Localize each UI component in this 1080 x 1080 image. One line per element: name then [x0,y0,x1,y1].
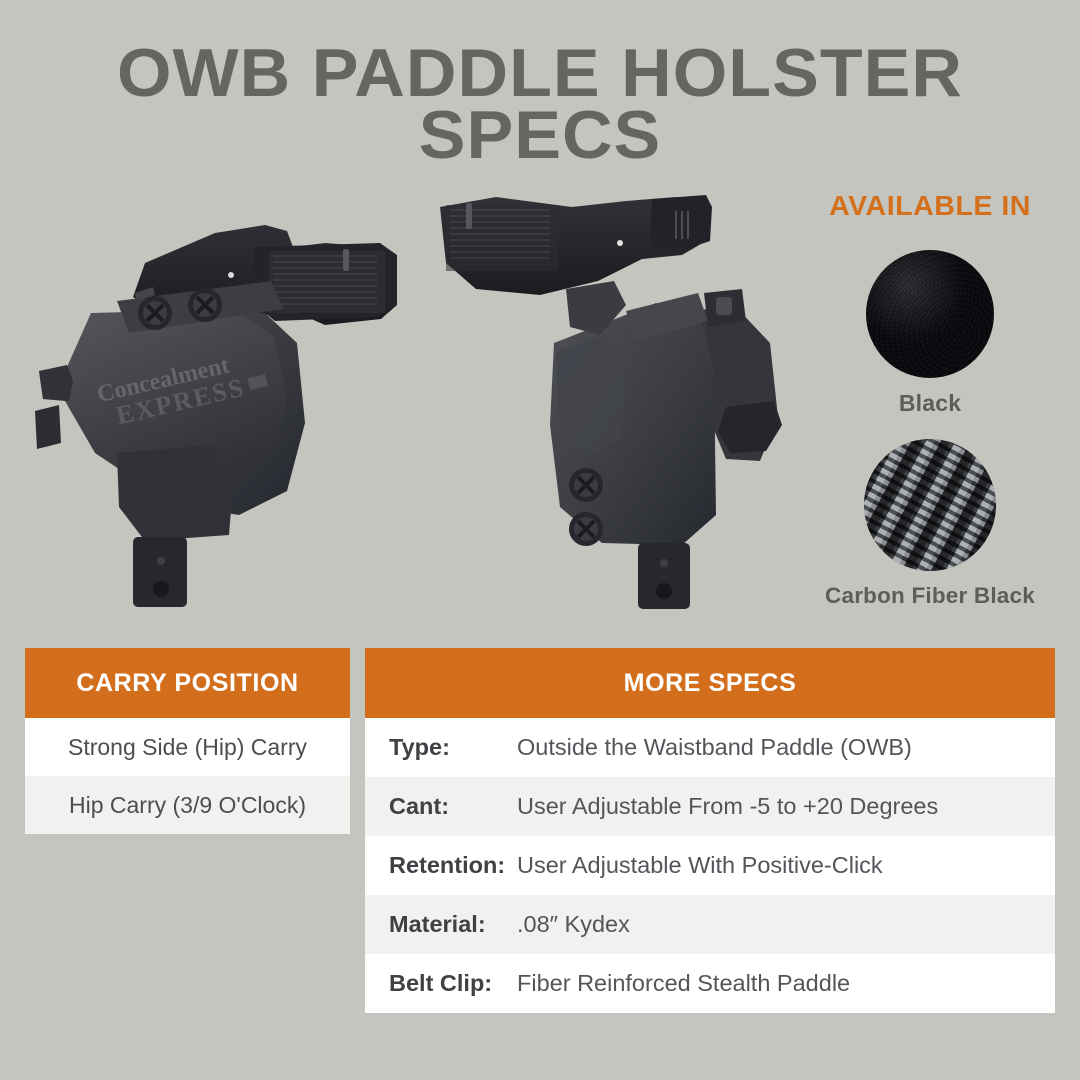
spec-value: Outside the Waistband Paddle (OWB) [517,734,912,761]
holster-rear-view-image [430,185,810,625]
carry-position-table-header: CARRY POSITION [25,648,350,718]
available-colors-panel: AVAILABLE IN Black Carbon Fiber Black [790,190,1070,627]
table-row: Material: .08″ Kydex [365,895,1055,954]
carbon-fiber-black-swatch-label: Carbon Fiber Black [790,583,1070,609]
table-row: Retention: User Adjustable With Positive… [365,836,1055,895]
spec-label: Retention: [365,852,517,879]
spec-label: Type: [365,734,517,761]
product-gallery: Concealment EXPRESS [0,185,800,635]
carry-position-table-body: Strong Side (Hip) Carry Hip Carry (3/9 O… [25,718,350,834]
page-title-line-2: SPECS [0,104,1080,166]
screw-1 [569,468,603,502]
color-option-carbon-fiber-black[interactable]: Carbon Fiber Black [790,439,1070,609]
table-row: Cant: User Adjustable From -5 to +20 Deg… [365,777,1055,836]
carry-position-value: Strong Side (Hip) Carry [68,734,307,761]
screw-2 [188,288,222,322]
available-in-heading: AVAILABLE IN [787,190,1073,222]
carry-position-table: CARRY POSITION Strong Side (Hip) Carry H… [25,648,350,834]
spec-label: Material: [365,911,517,938]
spec-value: .08″ Kydex [517,911,630,938]
paddle-tab [638,543,690,609]
spec-label: Cant: [365,793,517,820]
more-specs-table-body: Type: Outside the Waistband Paddle (OWB)… [365,718,1055,1013]
carry-position-value: Hip Carry (3/9 O'Clock) [69,792,306,819]
page-title: OWB PADDLE HOLSTER SPECS [0,42,1080,166]
screw-1 [138,296,172,330]
screw-2 [569,512,603,546]
table-row: Strong Side (Hip) Carry [25,718,350,776]
page-title-line-1: OWB PADDLE HOLSTER [0,42,1080,104]
holster-rear-view [430,185,810,625]
spec-label: Belt Clip: [365,970,517,997]
pistol-silhouette [440,195,712,295]
color-option-black[interactable]: Black [790,250,1070,417]
spec-value: User Adjustable From -5 to +20 Degrees [517,793,938,820]
spec-value: Fiber Reinforced Stealth Paddle [517,970,850,997]
more-specs-table: MORE SPECS Type: Outside the Waistband P… [365,648,1055,1013]
table-row: Hip Carry (3/9 O'Clock) [25,776,350,834]
black-swatch[interactable] [866,250,994,378]
black-swatch-label: Black [790,390,1070,417]
holster-front-view-image: Concealment EXPRESS [25,185,425,625]
more-specs-table-header: MORE SPECS [365,648,1055,718]
carbon-fiber-black-swatch[interactable] [864,439,996,571]
table-row: Type: Outside the Waistband Paddle (OWB) [365,718,1055,777]
table-row: Belt Clip: Fiber Reinforced Stealth Padd… [365,954,1055,1013]
holster-front-view: Concealment EXPRESS [25,185,425,625]
spec-value: User Adjustable With Positive-Click [517,852,883,879]
